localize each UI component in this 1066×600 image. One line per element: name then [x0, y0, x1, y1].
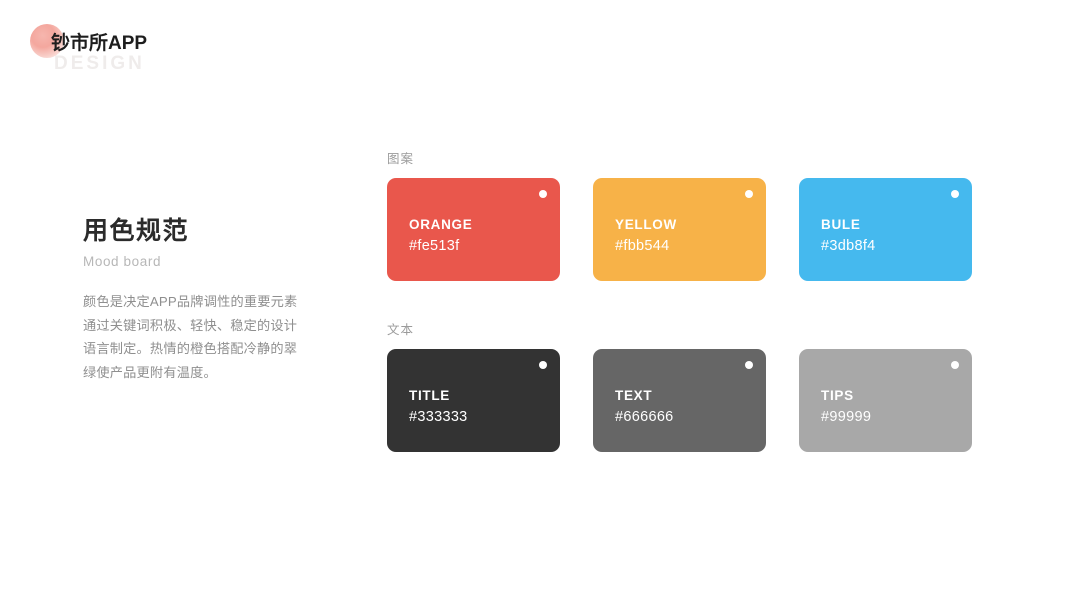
swatch-name-label: TITLE: [409, 387, 550, 405]
swatch-dot-icon: [745, 190, 753, 198]
color-swatch-blue[interactable]: BULE #3db8f4: [799, 178, 972, 281]
swatch-name-label: YELLOW: [615, 216, 756, 234]
swatch-hex-value: #99999: [821, 408, 962, 427]
swatch-hex-value: #666666: [615, 408, 756, 427]
swatch-group-text: 文本 TITLE #333333 TEXT #666666 TIPS #9999…: [387, 322, 972, 452]
swatch-dot-icon: [951, 361, 959, 369]
swatch-body: TIPS #99999: [821, 387, 962, 427]
group-label: 文本: [387, 322, 972, 338]
color-swatch-tips[interactable]: TIPS #99999: [799, 349, 972, 452]
group-label: 图案: [387, 151, 972, 167]
swatch-dot-icon: [951, 190, 959, 198]
swatch-dot-icon: [539, 190, 547, 198]
swatch-name-label: BULE: [821, 216, 962, 234]
color-swatch-orange[interactable]: ORANGE #fe513f: [387, 178, 560, 281]
swatch-body: TEXT #666666: [615, 387, 756, 427]
color-swatch-yellow[interactable]: YELLOW #fbb544: [593, 178, 766, 281]
swatch-body: YELLOW #fbb544: [615, 216, 756, 256]
swatch-hex-value: #3db8f4: [821, 237, 962, 256]
swatch-name-label: TIPS: [821, 387, 962, 405]
intro-block: 用色规范 Mood board 颜色是决定APP品牌调性的重要元素通过关键词积极…: [83, 214, 333, 384]
intro-paragraph: 颜色是决定APP品牌调性的重要元素通过关键词积极、轻快、稳定的设计语言制定。热情…: [83, 290, 298, 384]
swatch-body: TITLE #333333: [409, 387, 550, 427]
color-swatch-title[interactable]: TITLE #333333: [387, 349, 560, 452]
page-title: 用色规范: [83, 214, 333, 248]
swatch-body: ORANGE #fe513f: [409, 216, 550, 256]
swatch-group-pattern: 图案 ORANGE #fe513f YELLOW #fbb544 BULE #3…: [387, 151, 972, 281]
swatch-body: BULE #3db8f4: [821, 216, 962, 256]
brand-logo-block: DESIGN 钞市所APP: [30, 20, 330, 70]
swatch-row: ORANGE #fe513f YELLOW #fbb544 BULE #3db8…: [387, 178, 972, 281]
swatch-hex-value: #fbb544: [615, 237, 756, 256]
swatch-hex-value: #333333: [409, 408, 550, 427]
swatch-dot-icon: [539, 361, 547, 369]
swatch-hex-value: #fe513f: [409, 237, 550, 256]
swatch-dot-icon: [745, 361, 753, 369]
brand-watermark-text: DESIGN: [54, 53, 145, 75]
page-subtitle: Mood board: [83, 253, 333, 271]
brand-name-label: 钞市所APP: [51, 28, 147, 55]
color-swatch-text[interactable]: TEXT #666666: [593, 349, 766, 452]
swatch-row: TITLE #333333 TEXT #666666 TIPS #99999: [387, 349, 972, 452]
swatch-name-label: TEXT: [615, 387, 756, 405]
swatch-name-label: ORANGE: [409, 216, 550, 234]
